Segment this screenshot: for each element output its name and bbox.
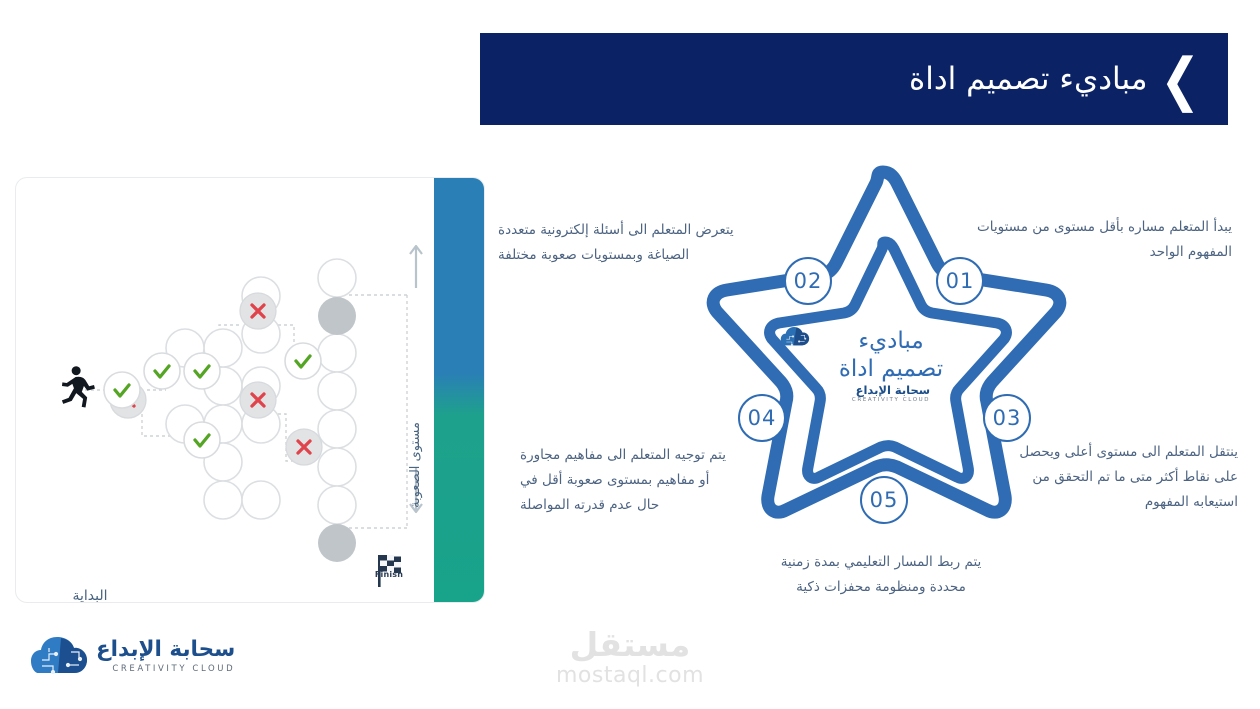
- decision-tree-diagram: .ce{fill:#fff;stroke:#dcdfe2;stroke-widt…: [16, 178, 437, 603]
- step-text-04: يتم توجيه المتعلم الى مفاهيم مجاورة أو م…: [520, 443, 732, 518]
- runner-icon: [62, 366, 95, 407]
- cloud-circuit-icon: [776, 327, 810, 347]
- center-title-line2: تصميم اداة: [839, 356, 943, 382]
- center-logo-arabic: سحابة الإبداع: [852, 385, 930, 397]
- step-circle-05[interactable]: 05: [860, 476, 908, 524]
- start-label: البداية: [50, 588, 130, 603]
- step-circle-04[interactable]: 04: [738, 394, 786, 442]
- step-text-01: يبدأ المتعلم مساره بأقل مستوى من مستويات…: [960, 215, 1232, 265]
- center-logo-english: CREATIVITY CLOUD: [852, 398, 930, 404]
- brand-logo: سحابة الإبداع CREATIVITY CLOUD: [25, 636, 235, 676]
- step-circle-02[interactable]: 02: [784, 257, 832, 305]
- step-text-05: يتم ربط المسار التعليمي بمدة زمنية محددة…: [770, 550, 992, 600]
- watermark: مستقل mostaql.com: [545, 628, 715, 688]
- finish-label: Finish: [366, 570, 412, 579]
- center-title-line1: مباديء: [858, 328, 923, 354]
- step-text-02: يتعرض المتعلم الى أسئلة إلكترونية متعددة…: [498, 218, 766, 268]
- watermark-arabic: مستقل: [545, 628, 715, 663]
- center-logo: سحابة الإبداع CREATIVITY CLOUD: [776, 385, 1006, 403]
- star-center-label: مباديء تصميم اداة سحابة الإبداع CREATIVI…: [776, 327, 1006, 403]
- page-title: مباديء تصميم اداة: [909, 61, 1147, 97]
- brand-arabic: سحابة الإبداع: [96, 639, 235, 661]
- adaptive-path-illustration-card: .ce{fill:#fff;stroke:#dcdfe2;stroke-widt…: [15, 177, 485, 603]
- target-node: [318, 297, 356, 335]
- slide-root: ❯ مباديء تصميم اداة .ce{fill:#fff;stroke…: [0, 0, 1260, 709]
- step-text-03: ينتقل المتعلم الى مستوى أعلى ويحصل على ن…: [1000, 440, 1238, 515]
- gradient-accent-bar: [434, 178, 484, 602]
- watermark-english: mostaql.com: [545, 663, 715, 688]
- brand-english: CREATIVITY CLOUD: [96, 665, 235, 674]
- arrow-up-icon: [410, 246, 422, 288]
- difficulty-axis-label: مستوى الصعوبة: [408, 422, 423, 508]
- slide-header: ❯ مباديء تصميم اداة: [480, 33, 1228, 125]
- cloud-circuit-icon: [25, 636, 87, 676]
- target-node: [318, 524, 356, 562]
- chevron-left-icon: ❯: [1160, 50, 1200, 108]
- step-circle-03[interactable]: 03: [983, 394, 1031, 442]
